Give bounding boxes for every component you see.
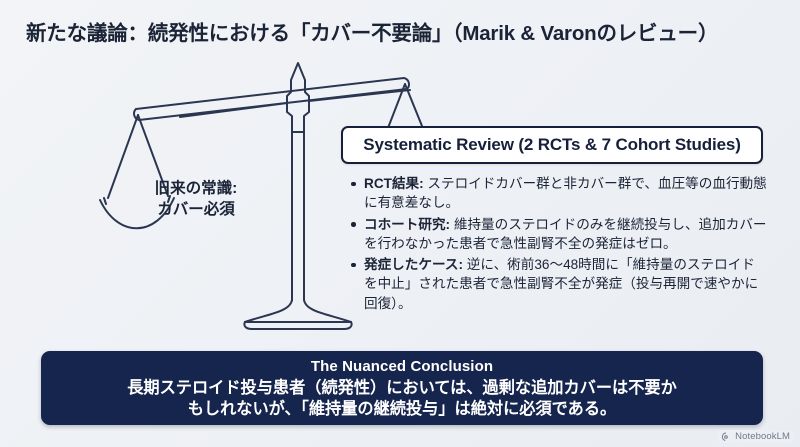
- watermark-label: NotebookLM: [735, 431, 790, 442]
- conclusion-line1: 長期ステロイド投与患者（続発性）においては、過剰な追加カバーは不要か: [55, 378, 749, 400]
- conclusion-banner: The Nuanced Conclusion 長期ステロイド投与患者（続発性）に…: [41, 351, 763, 425]
- slide-canvas: 新たな議論：続発性における「カバー不要論」（Marik & Varonのレビュー…: [0, 0, 800, 447]
- notebooklm-watermark: NotebookLM: [717, 430, 794, 443]
- findings-bullet-list: RCT結果: ステロイドカバー群と非カバー群で、血圧等の血行動態に有意差なし。 …: [348, 174, 768, 315]
- left-pan-caption-line1: 旧来の常識:: [120, 178, 272, 199]
- bullet-lead: コホート研究:: [364, 217, 450, 232]
- list-item: RCT結果: ステロイドカバー群と非カバー群で、血圧等の血行動態に有意差なし。: [348, 174, 768, 213]
- list-item: 発症したケース: 逆に、術前36〜48時間に「維持量のステロイドを中止」された患…: [348, 255, 768, 313]
- notebooklm-icon: [721, 432, 731, 442]
- conclusion-line2: もしれないが、「維持量の継続投与」は絶対に必須である。: [55, 399, 749, 421]
- bullet-text: ステロイドカバー群と非カバー群で、血圧等の血行動態に有意差なし。: [364, 176, 767, 210]
- systematic-review-header-label: Systematic Review (2 RCTs & 7 Cohort Stu…: [363, 135, 740, 155]
- bullet-lead: 発症したケース:: [364, 257, 463, 272]
- left-pan-caption-line2: カバー必須: [120, 199, 272, 220]
- left-pan-caption: 旧来の常識: カバー必須: [120, 178, 272, 221]
- bullet-lead: RCT結果:: [364, 176, 424, 191]
- conclusion-body: 長期ステロイド投与患者（続発性）においては、過剰な追加カバーは不要か もしれない…: [55, 378, 749, 421]
- systematic-review-header-box: Systematic Review (2 RCTs & 7 Cohort Stu…: [341, 126, 763, 164]
- conclusion-title: The Nuanced Conclusion: [55, 357, 749, 377]
- list-item: コホート研究: 維持量のステロイドのみを継続投与し、追加カバーを行わなかった患者…: [348, 215, 768, 254]
